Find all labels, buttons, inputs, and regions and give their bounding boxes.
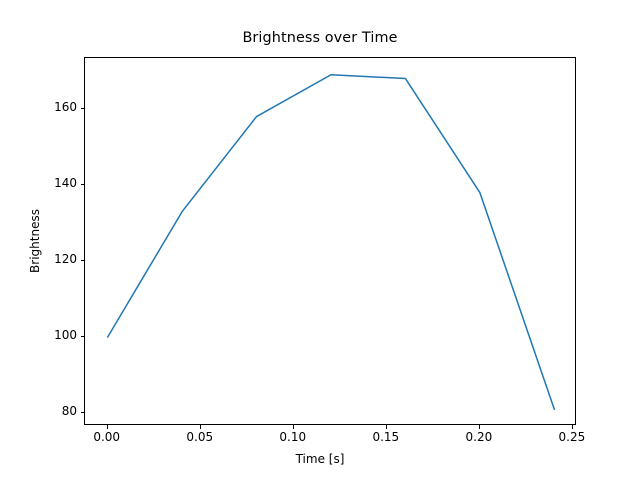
y-tick-label: 140 xyxy=(17,176,77,190)
data-series-brightness xyxy=(108,75,555,410)
y-tick-label: 160 xyxy=(17,100,77,114)
y-tick-label: 80 xyxy=(17,404,77,418)
x-tick-label: 0.25 xyxy=(542,430,602,444)
x-tick-label: 0.10 xyxy=(263,430,323,444)
x-axis-label: Time [s] xyxy=(0,452,640,466)
y-tick-mark xyxy=(81,108,85,109)
plot-axes xyxy=(84,57,576,425)
x-tick-mark xyxy=(386,425,387,429)
x-tick-mark xyxy=(479,425,480,429)
x-tick-mark xyxy=(200,425,201,429)
y-tick-mark xyxy=(81,412,85,413)
chart-title: Brightness over Time xyxy=(0,30,640,46)
x-tick-label: 0.05 xyxy=(170,430,230,444)
y-tick-label: 120 xyxy=(17,252,77,266)
x-tick-mark xyxy=(107,425,108,429)
line-plot-svg xyxy=(85,58,577,426)
figure-canvas: Brightness over Time Brightness 0.000.05… xyxy=(0,0,640,480)
x-tick-label: 0.00 xyxy=(77,430,137,444)
y-tick-label: 100 xyxy=(17,328,77,342)
y-axis-label: Brightness xyxy=(28,141,42,341)
x-tick-label: 0.20 xyxy=(449,430,509,444)
x-tick-label: 0.15 xyxy=(356,430,416,444)
y-tick-mark xyxy=(81,336,85,337)
y-tick-mark xyxy=(81,260,85,261)
x-tick-mark xyxy=(293,425,294,429)
x-tick-mark xyxy=(572,425,573,429)
y-tick-mark xyxy=(81,184,85,185)
